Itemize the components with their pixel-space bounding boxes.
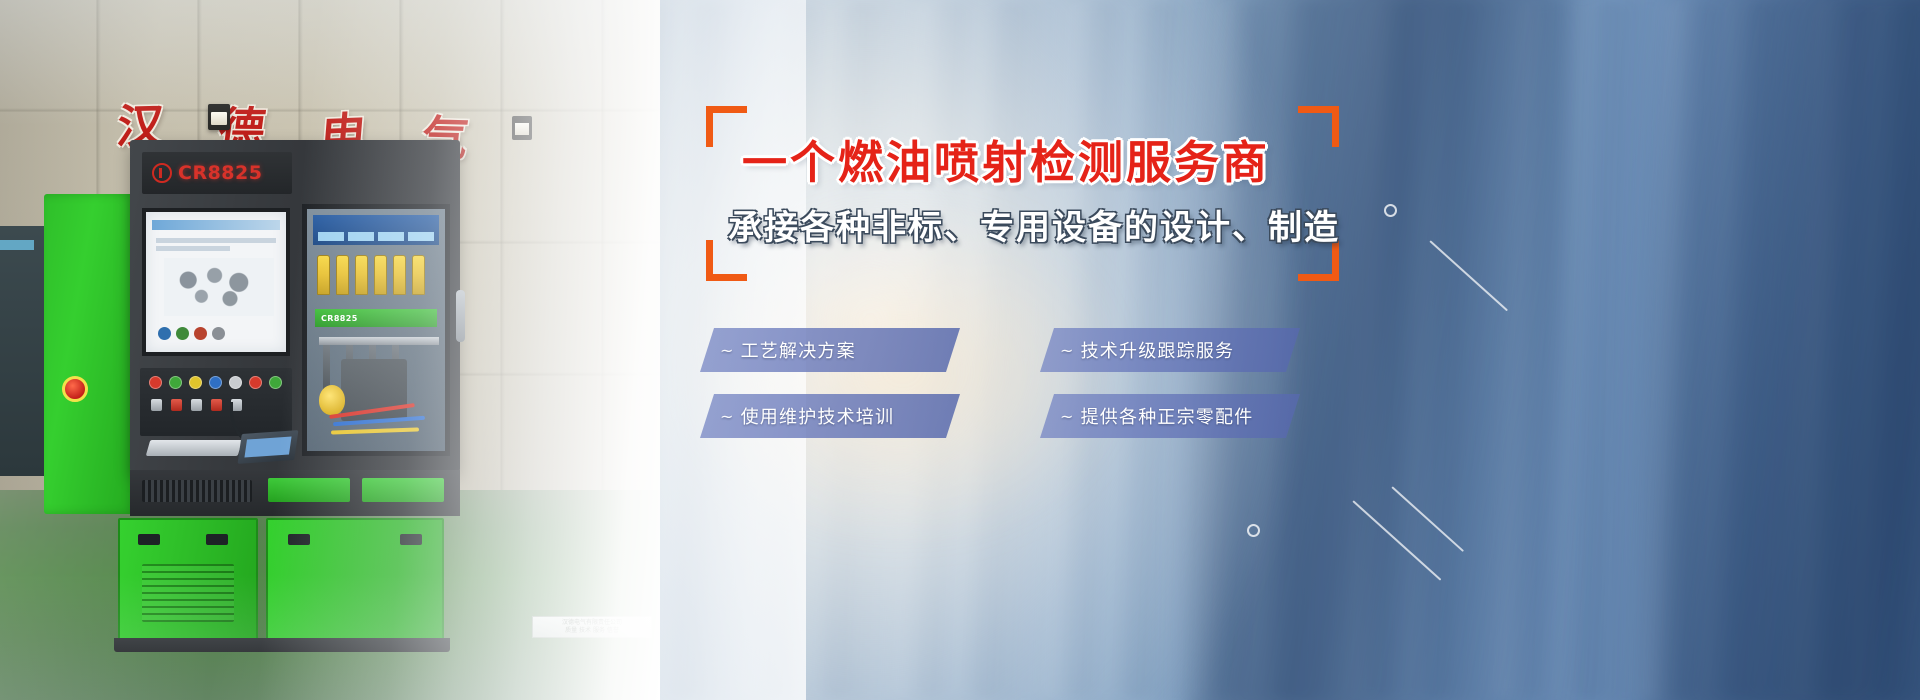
- feature-pill-tech-upgrade-service[interactable]: ~ 技术升级跟踪服务: [1040, 328, 1300, 372]
- monitor-icon-row: [158, 327, 225, 340]
- window-model-label: CR8825: [321, 314, 358, 323]
- feature-pill-maintenance-training[interactable]: ~ 使用维护技术培训: [700, 394, 960, 438]
- test-bench-machine: CR8825: [44, 140, 544, 540]
- feature-pill-grid: ~ 工艺解决方案 ~ 技术升级跟踪服务 ~ 使用维护技术培训 ~ 提供各种正宗零…: [700, 328, 1300, 438]
- machine-foot-rail: [114, 638, 450, 652]
- machine-glass-window: CR8825: [302, 204, 450, 456]
- side-cabinet: [0, 226, 46, 476]
- cabinet-grill-left: [142, 564, 234, 622]
- common-rail: [319, 337, 439, 345]
- monitor-diagram-image: [164, 258, 274, 316]
- emergency-stop-icon: [62, 376, 88, 402]
- cabinet-door-handle: [456, 290, 465, 342]
- feature-pill-label: 提供各种正宗零配件: [1081, 403, 1254, 429]
- headline-block: 一个燃油喷射检测服务商 承接各种非标、专用设备的设计、制造: [706, 106, 1346, 245]
- wall-lamp-icon-2: [512, 116, 532, 140]
- machine-laptop: [238, 430, 299, 464]
- page-title: 一个燃油喷射检测服务商: [706, 106, 1346, 185]
- measuring-tubes: [317, 255, 425, 295]
- wall-lamp-icon: [208, 104, 230, 130]
- window-header-panel: [313, 215, 439, 245]
- machine-vent: [142, 480, 252, 502]
- machine-green-side-panel: [44, 194, 136, 514]
- pill-tilde-icon: ~: [720, 407, 735, 426]
- pill-tilde-icon: ~: [720, 341, 735, 360]
- page-subtitle: 承接各种非标、专用设备的设计、制造: [706, 185, 1346, 245]
- pill-tilde-icon: ~: [1060, 407, 1075, 426]
- pill-tilde-icon: ~: [1060, 341, 1075, 360]
- brand-logo-icon: [152, 163, 172, 183]
- feature-pill-label: 使用维护技术培训: [741, 403, 895, 429]
- machine-logo-plate: CR8825: [142, 152, 292, 194]
- machine-keyboard: [146, 440, 243, 456]
- nameplate-line-1: 汉德电气有限责任公司: [562, 619, 622, 627]
- machine-model-label: CR8825: [178, 162, 262, 184]
- feature-pill-label: 技术升级跟踪服务: [1081, 337, 1235, 363]
- machine-lower-cabinet-left: [118, 518, 258, 640]
- machine-green-slot-2: [362, 478, 444, 502]
- machine-lower-cabinet-right: 汉德电气有限责任公司 质量 技术 服务 信誉: [266, 518, 444, 640]
- hydraulic-hoses: [329, 401, 439, 441]
- machine-nameplate: 汉德电气有限责任公司 质量 技术 服务 信誉: [532, 616, 652, 638]
- window-model-bar: CR8825: [315, 309, 437, 327]
- hero-banner: 汉 德 电 气 CR8825: [0, 0, 1920, 700]
- feature-pill-genuine-parts[interactable]: ~ 提供各种正宗零配件: [1040, 394, 1300, 438]
- feature-pill-process-solution[interactable]: ~ 工艺解决方案: [700, 328, 960, 372]
- machine-monitor-screen: [142, 208, 290, 356]
- machine-green-slot-1: [268, 478, 350, 502]
- feature-pill-label: 工艺解决方案: [741, 337, 856, 363]
- nameplate-line-2: 质量 技术 服务 信誉: [565, 627, 619, 635]
- indicator-lamp-row: [149, 376, 283, 389]
- background-tower-dark-2: [1651, 0, 1920, 700]
- workshop-photo: 汉 德 电 气 CR8825: [0, 0, 660, 700]
